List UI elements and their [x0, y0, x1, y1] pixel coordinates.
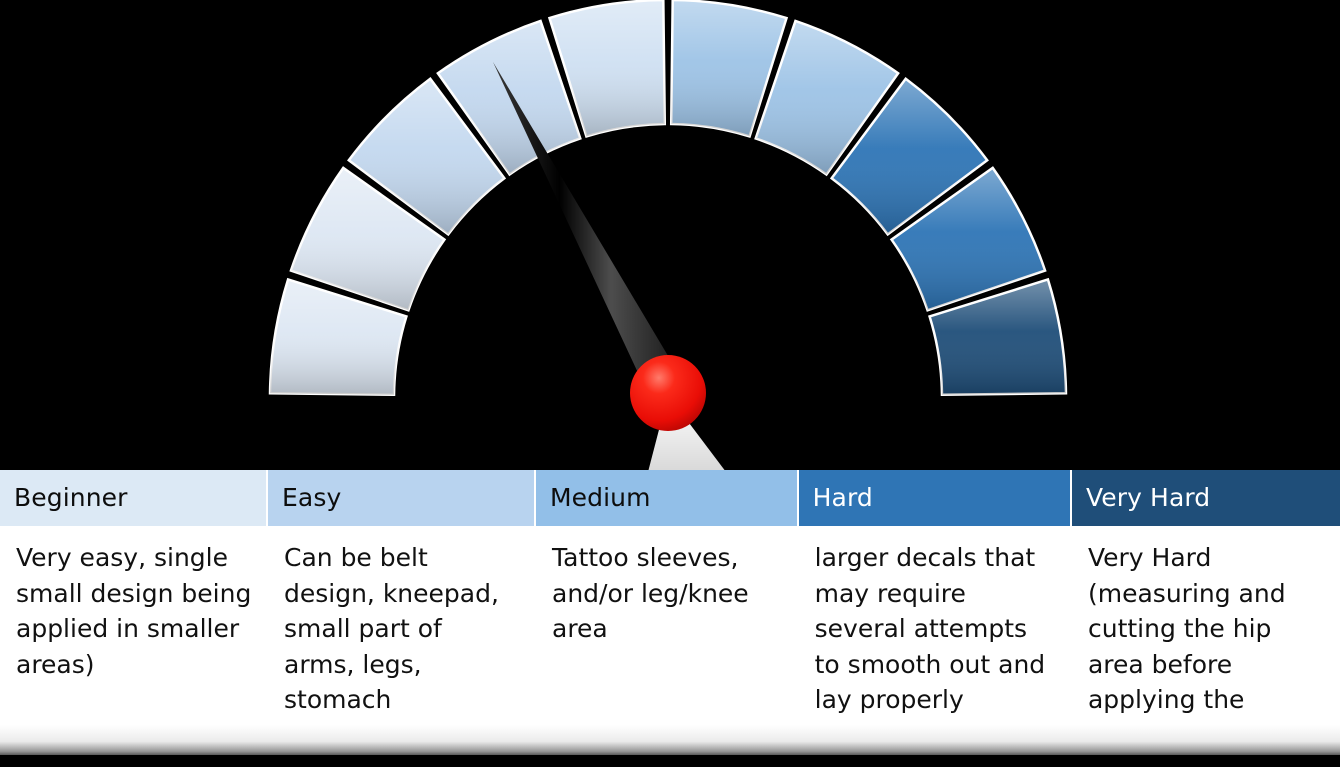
legend-header-easy: Easy — [268, 470, 536, 526]
legend-header-cell-easy[interactable]: Easy — [268, 470, 536, 526]
legend-body-beginner: Very easy, single small design being app… — [0, 526, 268, 692]
gauge-chart — [0, 0, 1340, 472]
gauge-svg — [0, 0, 1340, 472]
gauge-hub — [630, 355, 706, 431]
legend-header-beginner: Beginner — [0, 470, 268, 526]
legend-header-cell-hard[interactable]: Hard — [799, 470, 1072, 526]
legend-header-medium: Medium — [536, 470, 799, 526]
legend-header-cell-medium[interactable]: Medium — [536, 470, 799, 526]
legend-header-cell-beginner[interactable]: Beginner — [0, 470, 268, 526]
legend-body-hard: larger decals that may require several a… — [799, 526, 1072, 728]
legend-header-hard: Hard — [799, 470, 1072, 526]
slide-canvas: Beginner Easy Medium Hard Very Hard — [0, 0, 1340, 767]
table-drop-shadow — [0, 725, 1340, 755]
bottom-black-bar — [0, 755, 1340, 767]
gauge-segments — [270, 0, 1066, 395]
legend-header-cell-very-hard[interactable]: Very Hard — [1072, 470, 1340, 526]
legend-header-row: Beginner Easy Medium Hard Very Hard — [0, 470, 1340, 526]
difficulty-legend-table: Beginner Easy Medium Hard Very Hard — [0, 470, 1340, 756]
legend-header-very-hard: Very Hard — [1072, 470, 1340, 526]
legend-body-easy: Can be belt design, kneepad, small part … — [268, 526, 536, 728]
legend-body-medium: Tattoo sleeves, and/or leg/knee area — [536, 526, 799, 657]
legend-table: Beginner Easy Medium Hard Very Hard — [0, 470, 1340, 763]
